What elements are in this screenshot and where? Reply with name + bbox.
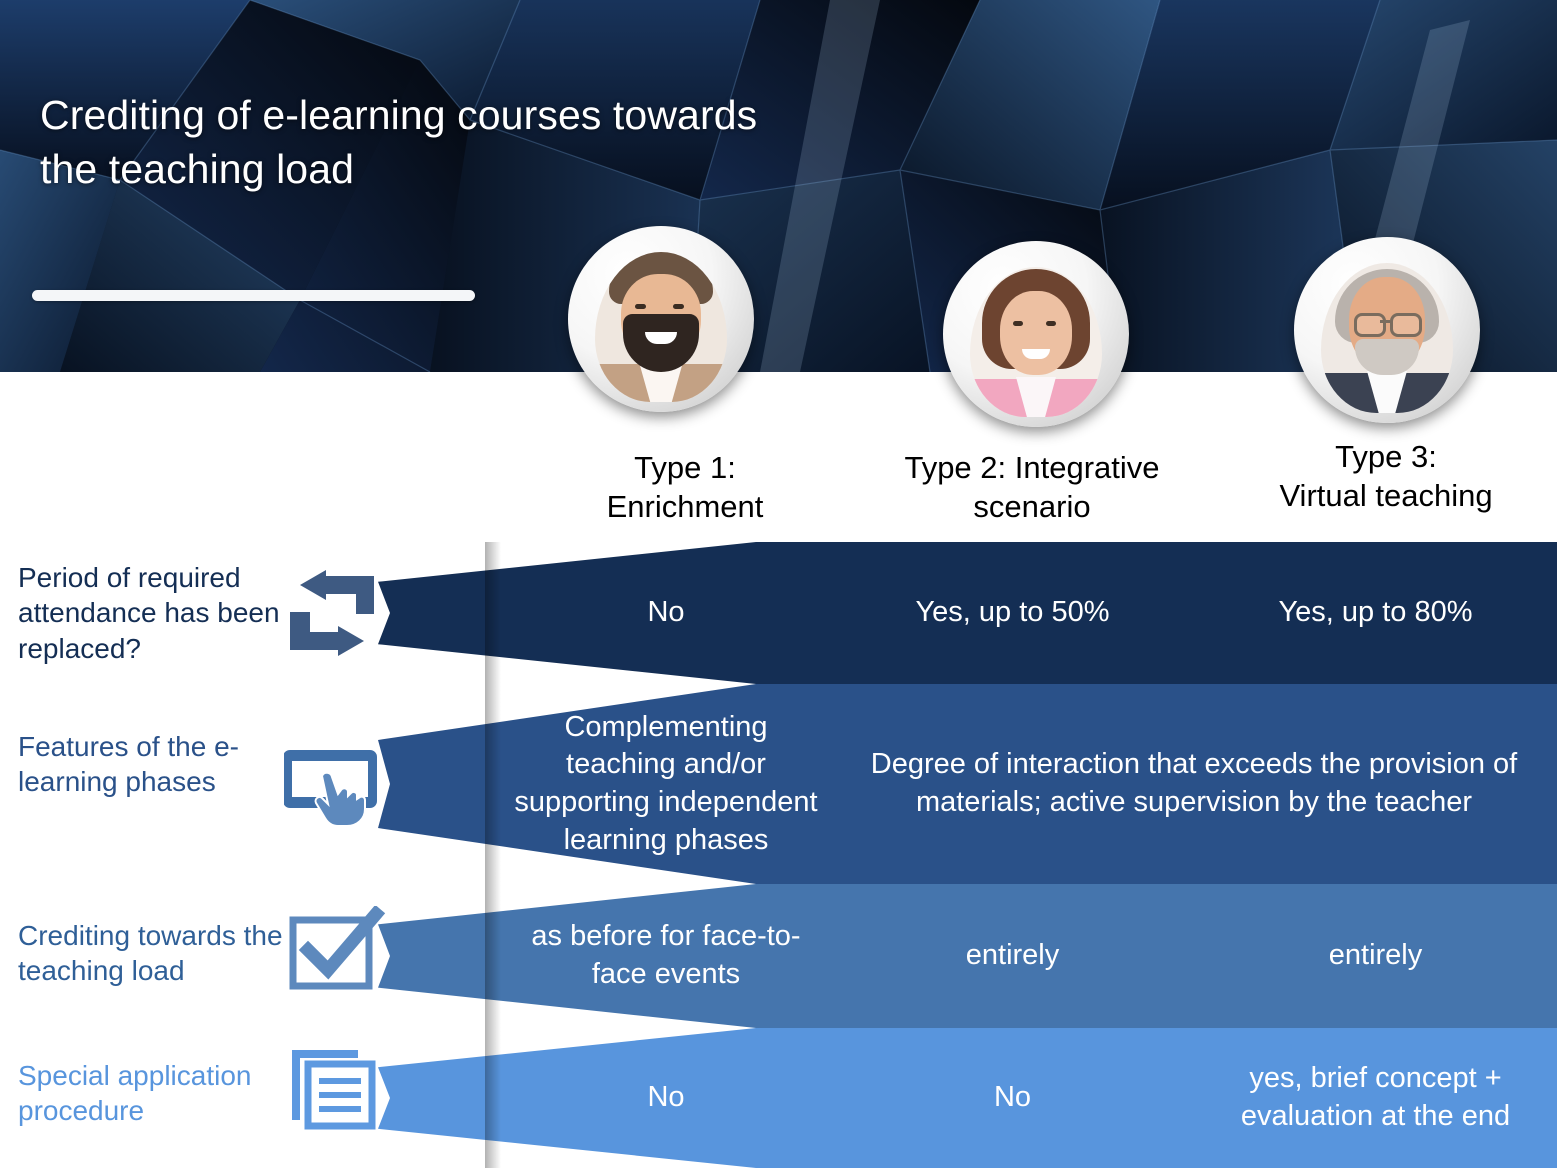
cell-type1: No [501,1079,831,1117]
exchange-arrows-icon [282,570,382,656]
documents-icon [288,1046,388,1132]
cell-type1: as before for face-to-face events [501,918,831,993]
column-header-type2: Type 2: Integrative scenario [866,448,1198,527]
portrait-bearded-man [595,252,727,402]
avatar-type1 [568,226,754,412]
row-shadow [485,542,501,684]
portrait-woman [970,267,1102,417]
page-title: Crediting of e-learning courses towards … [40,88,800,196]
portrait-older-man [1321,263,1453,413]
row-shadow [485,1028,501,1168]
row-label-features: Features of the e-learning phases [18,729,290,800]
table-row: Period of required attendance has been r… [0,542,1557,684]
cell-type1: Complementing teaching and/or supporting… [501,709,831,860]
row-cells: Complementing teaching and/or supporting… [501,684,1557,884]
row-label-crediting: Crediting towards the teaching load [18,918,290,989]
cell-type3: entirely [1194,937,1557,975]
cell-type2: entirely [831,937,1194,975]
row-shadow [485,884,501,1028]
table-row: Special application procedure No No yes,… [0,1028,1557,1168]
row-cells: No Yes, up to 50% Yes, up to 80% [501,542,1557,684]
table-row: Features of the e-learning phases Comple… [0,684,1557,884]
cell-type2: No [831,1079,1194,1117]
row-label-application: Special application procedure [18,1058,290,1129]
row-cells: No No yes, brief concept + evaluation at… [501,1028,1557,1168]
cell-type3: yes, brief concept + evaluation at the e… [1194,1060,1557,1135]
cell-type1: No [501,594,831,632]
checkbox-check-icon [288,906,388,992]
cell-type2: Yes, up to 50% [831,594,1194,632]
row-label-attendance: Period of required attendance has been r… [18,560,290,666]
table-row: Crediting towards the teaching load as b… [0,884,1557,1028]
comparison-table: Period of required attendance has been r… [0,542,1557,1168]
row-shadow [485,684,501,884]
touchscreen-hand-icon [284,742,384,828]
cell-type3: Yes, up to 80% [1194,594,1557,632]
cell-type2-type3-merged: Degree of interaction that exceeds the p… [831,746,1557,821]
avatar-type2 [943,241,1129,427]
slide: Crediting of e-learning courses towards … [0,0,1557,1168]
row-cells: as before for face-to-face events entire… [501,884,1557,1028]
avatar-type3 [1294,237,1480,423]
column-header-type1: Type 1: Enrichment [540,448,830,527]
title-divider-rule [32,290,475,301]
column-header-type3: Type 3: Virtual teaching [1226,437,1546,516]
